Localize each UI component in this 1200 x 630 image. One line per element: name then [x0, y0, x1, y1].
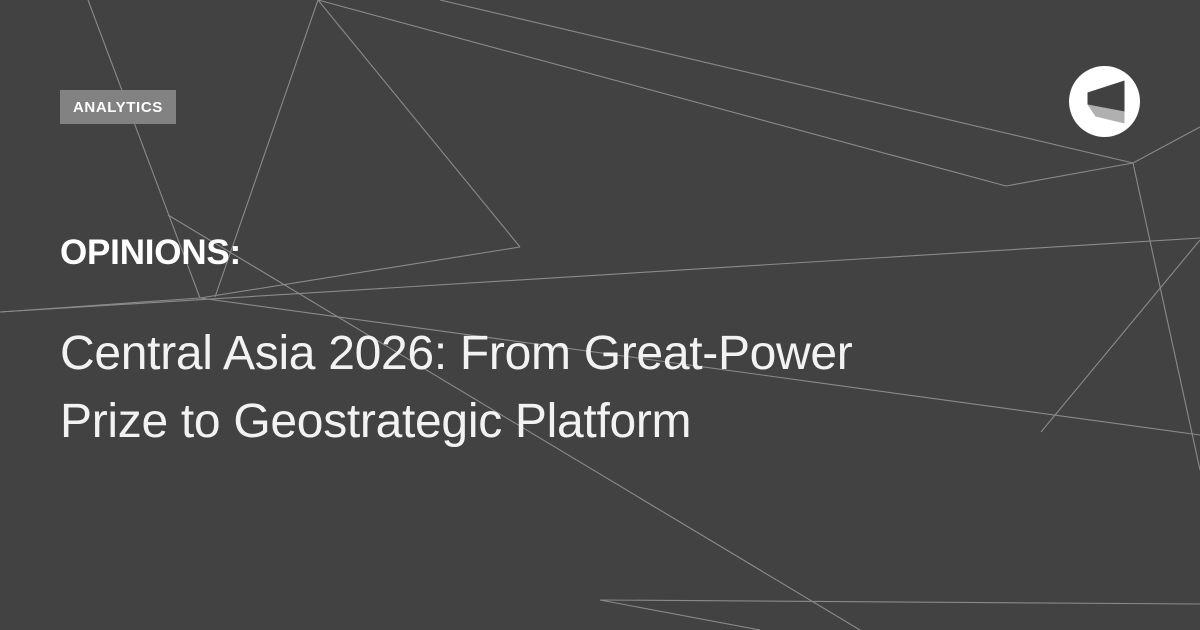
card-content: ANALYTICS OPINIONS: Central Asia 2026: F… — [0, 0, 1200, 630]
category-badge[interactable]: ANALYTICS — [60, 90, 176, 124]
kicker-label: OPINIONS: — [60, 235, 241, 270]
page-title-line-1: Central Asia 2026: From Great-Power — [60, 320, 960, 388]
site-logo-icon[interactable] — [1069, 66, 1140, 137]
social-share-card: ANALYTICS OPINIONS: Central Asia 2026: F… — [0, 0, 1200, 630]
page-title: Central Asia 2026: From Great-Power Priz… — [60, 320, 960, 456]
page-title-line-2: Prize to Geostrategic Platform — [60, 388, 960, 456]
category-badge-label: ANALYTICS — [73, 100, 163, 115]
